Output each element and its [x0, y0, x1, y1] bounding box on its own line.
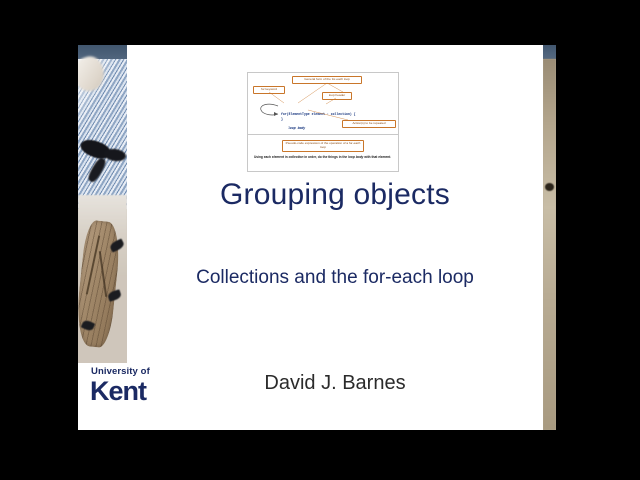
pseudo-em-element-1: element [272, 155, 284, 159]
presentation-slide: General form of the for-each loop for ke… [78, 45, 556, 430]
photo-edge-eye [545, 183, 554, 191]
code-snippet: for(ElementType element : collection) { … [281, 103, 356, 140]
for-each-loop-diagram: General form of the for-each loop for ke… [247, 72, 399, 172]
video-letterbox-stage: General form of the for-each loop for ke… [0, 0, 640, 480]
callout-for-keyword: for keyword [253, 86, 285, 94]
photo-edge-sky-band [543, 45, 556, 59]
code-line-close-brace: } [281, 117, 283, 121]
pseudo-text-5: . [390, 155, 391, 159]
photo-edge-body [543, 59, 556, 430]
blue-jay-photo-edge [543, 45, 556, 430]
slide-subtitle: Collections and the for-each loop [127, 267, 543, 289]
slide-title: Grouping objects [127, 178, 543, 212]
pseudo-text-4: with that [363, 155, 378, 159]
code-line-body: loop body [288, 126, 356, 131]
pseudo-em-loop-body: loop body [348, 155, 363, 159]
callout-general-form: General form of the for-each loop [292, 76, 362, 84]
pseudo-text-1: Using each [254, 155, 272, 159]
pseudo-text-3: in order, do the things in the [303, 155, 348, 159]
pseudo-em-collection: collection [289, 155, 304, 159]
slide-author: David J. Barnes [127, 372, 543, 395]
code-line-for: for(ElementType element : collection) { [281, 112, 356, 117]
pseudo-em-element-2: element [378, 155, 390, 159]
callout-pseudo-code: Pseudo-code expression of the operation … [282, 140, 364, 152]
university-of-kent-logo: University of Kent [90, 367, 182, 405]
blue-jay-on-branch-photo [78, 45, 127, 363]
callout-loop-header: loop header [322, 92, 352, 100]
pseudo-code-description: Using each element in collection in orde… [254, 155, 394, 159]
loop-arrow-icon [258, 103, 280, 119]
logo-kent-text: Kent [90, 378, 182, 405]
